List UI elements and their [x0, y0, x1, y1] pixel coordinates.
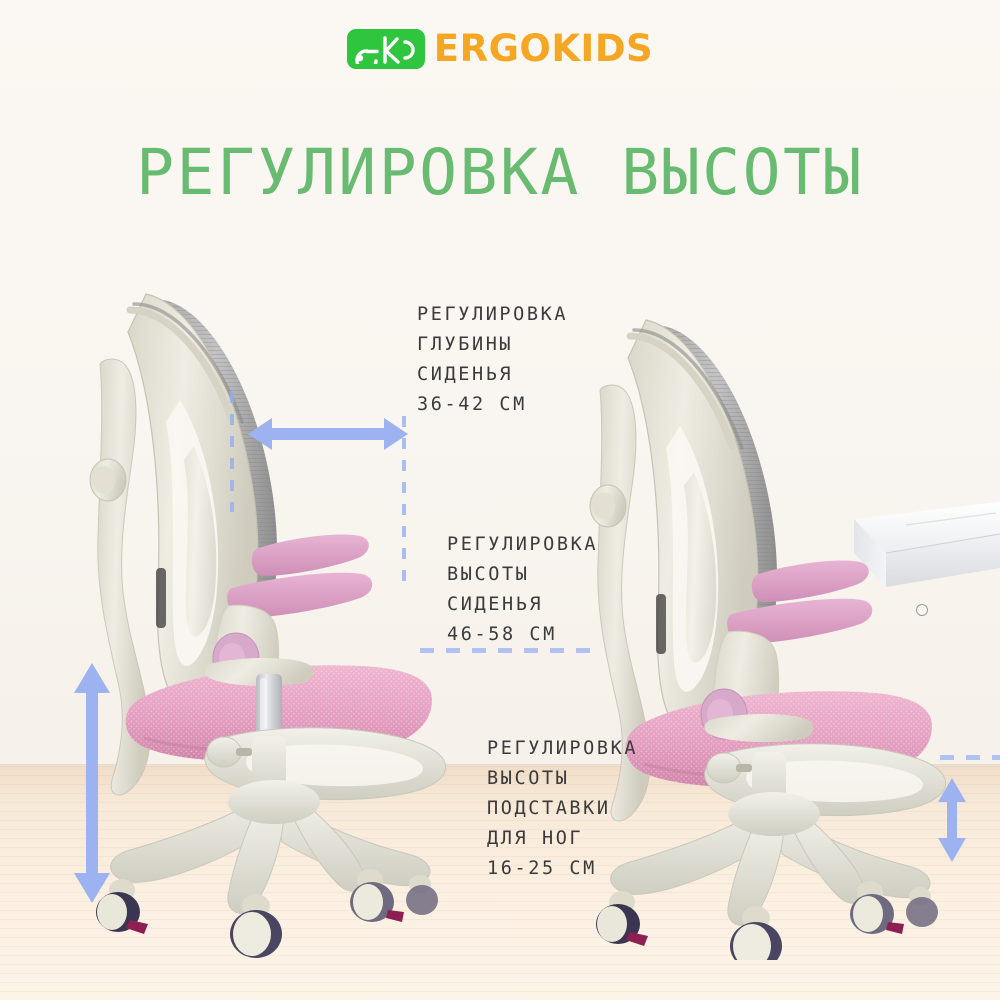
depth-guide-left-dashed-line [230, 392, 234, 512]
floor-guide-dashed-line [940, 755, 1000, 760]
ergokids-logo-mark-icon [347, 29, 425, 69]
brand-wordmark: ERGOKIDS [434, 30, 653, 67]
annotation-footrest-height: РЕГУЛИРОВКА ВЫСОТЫ ПОДСТАВКИ ДЛЯ НОГ 16-… [487, 734, 638, 884]
annotation-seat-depth: РЕГУЛИРОВКА ГЛУБИНЫ СИДЕНЬЯ 36-42 СМ [417, 300, 568, 420]
seat-depth-arrow [248, 412, 408, 456]
product-infographic-scene: ERGOKIDS РЕГУЛИРОВКА ВЫСОТЫ РЕГУЛИРОВКА … [0, 0, 1000, 1000]
footrest-height-arrow [935, 778, 969, 862]
seat-height-arrow [70, 663, 114, 903]
annotation-seat-height: РЕГУЛИРОВКА ВЫСОТЫ СИДЕНЬЯ 46-58 СМ [447, 530, 598, 650]
page-title: РЕГУЛИРОВКА ВЫСОТЫ [0, 141, 1000, 204]
brand-logo: ERGOKIDS [0, 26, 1000, 72]
